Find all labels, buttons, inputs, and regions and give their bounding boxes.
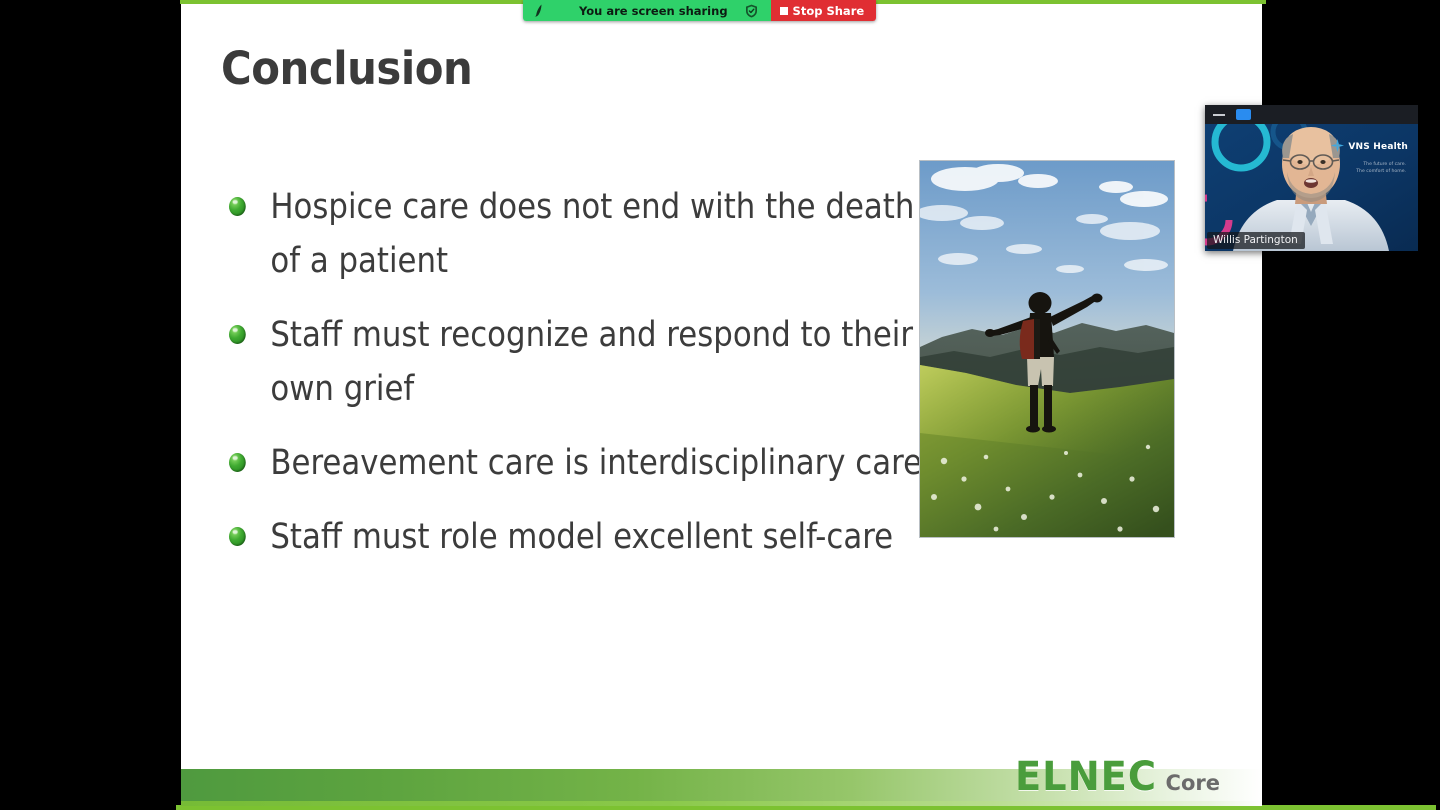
share-status-text: You are screen sharing [546,4,742,18]
share-status-area[interactable]: You are screen sharing [523,0,771,21]
participant-name-label: Willis Partington [1207,232,1305,249]
stop-share-label: Stop Share [793,4,865,18]
list-item: Bereavement care is interdisciplinary ca… [229,436,948,490]
tagline-line-2: The comfort of home. [1356,169,1406,176]
vns-burst-glyph [1331,139,1344,152]
list-item-label: Hospice care does not end with the death… [270,187,914,281]
screen-share-frame: Conclusion Hospice care does not end wit… [0,0,1440,810]
stop-square-icon [780,7,788,15]
shield-glyph [745,4,758,18]
green-sphere-bullet-icon [229,197,246,216]
maximize-icon[interactable] [1236,109,1251,120]
list-item-label: Staff must role model excellent self-car… [270,517,893,557]
participant-video-thumbnail[interactable]: VNS Health The future of care. The comfo… [1205,105,1418,251]
elnec-wordmark: ELNEC [1015,754,1157,800]
video-thumbnail-titlebar[interactable] [1205,105,1418,124]
elnec-logo: ELNEC Core [1012,754,1220,800]
slide-photo [919,160,1175,538]
vns-health-tagline: The future of care. The comfort of home. [1356,162,1406,175]
minimize-icon[interactable] [1213,114,1225,116]
screen-share-icon [532,4,546,18]
vns-health-logo-icon: VNS Health [1331,139,1408,154]
security-shield-icon[interactable] [742,4,771,18]
page-title: Conclusion [221,42,472,95]
stop-share-button[interactable]: Stop Share [771,0,877,21]
hillside-sunset-illustration [920,161,1174,537]
share-border-left [176,0,180,810]
green-sphere-bullet-icon [229,325,246,344]
screen-share-banner[interactable]: You are screen sharing Stop Share [523,0,876,21]
list-item: Hospice care does not end with the death… [229,180,948,288]
elnec-sublabel: Core [1166,771,1220,795]
list-item: Staff must recognize and respond to thei… [229,308,948,416]
presentation-slide: Conclusion Hospice care does not end wit… [181,4,1262,806]
vns-health-wordmark: VNS Health [1348,142,1408,152]
vns-mark-icon [1331,139,1344,154]
green-sphere-bullet-icon [229,453,246,472]
list-item-label: Bereavement care is interdisciplinary ca… [270,443,922,483]
share-glyph [534,4,545,17]
bullet-list: Hospice care does not end with the death… [229,180,909,584]
green-sphere-bullet-icon [229,527,246,546]
tagline-line-1: The future of care. [1356,162,1406,169]
list-item: Staff must role model excellent self-car… [229,510,948,564]
list-item-label: Staff must recognize and respond to thei… [270,315,913,409]
